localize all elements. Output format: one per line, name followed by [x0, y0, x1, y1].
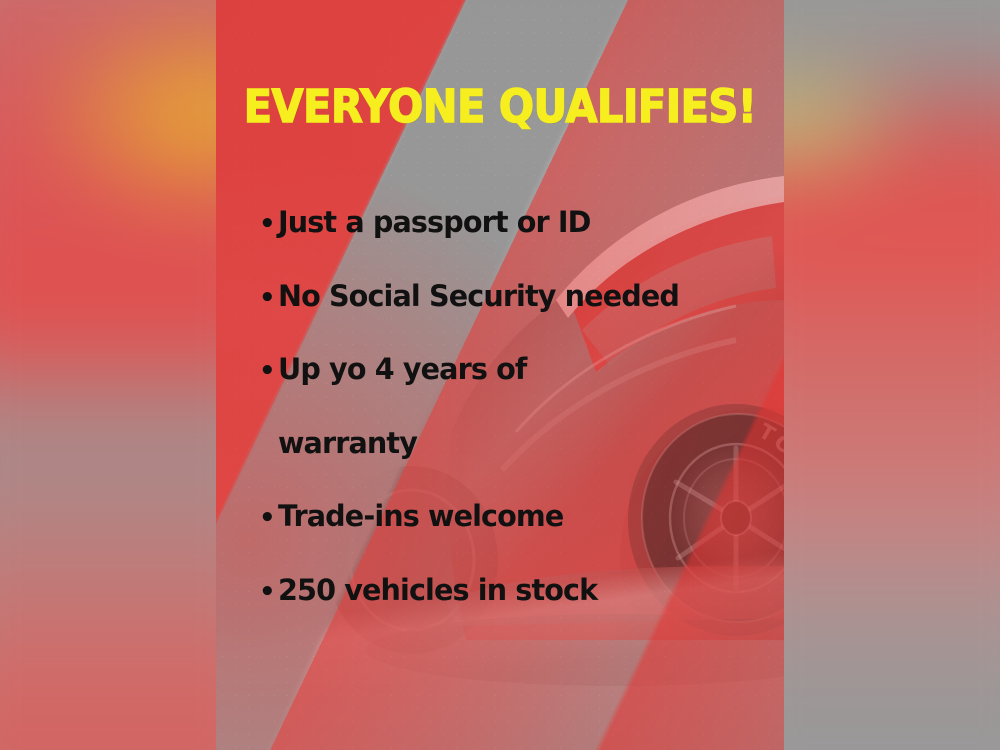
bullet-point-icon: •: [259, 285, 278, 311]
backdrop-left: [0, 0, 218, 750]
backdrop-right: [782, 0, 1000, 750]
poster-content: EVERYONE QUALIFIES! • Just a passport or…: [216, 0, 784, 750]
poster-stage: TOYO: [0, 0, 1000, 750]
bullet-point-icon: •: [259, 358, 278, 384]
list-item: • No Social Security needed: [259, 282, 779, 312]
list-item-label: No Social Security needed: [278, 282, 764, 312]
list-item-label: 250 vehicles in stock: [278, 576, 764, 606]
list-item-label: Just a passport or ID: [278, 208, 764, 238]
list-item-continuation: warranty: [259, 429, 779, 459]
list-item-label: Up yo 4 years of: [278, 355, 764, 385]
bullet-point-icon: •: [259, 211, 278, 237]
backdrop-right-blur: [782, 0, 1000, 750]
list-item: • Just a passport or ID: [259, 208, 779, 238]
list-item: • Up yo 4 years of: [259, 355, 779, 385]
list-item-label: warranty: [278, 429, 764, 459]
headline: EVERYONE QUALIFIES!: [239, 84, 762, 129]
list-item: • 250 vehicles in stock: [259, 576, 779, 606]
bullet-point-icon: •: [259, 579, 278, 605]
bullet-point-icon: •: [259, 505, 278, 531]
list-item-label: Trade-ins welcome: [278, 502, 764, 532]
list-item: • Trade-ins welcome: [259, 502, 779, 532]
poster-panel: TOYO: [216, 0, 784, 750]
benefits-list: • Just a passport or ID • No Social Secu…: [259, 208, 779, 605]
backdrop-left-blur: [0, 0, 218, 750]
